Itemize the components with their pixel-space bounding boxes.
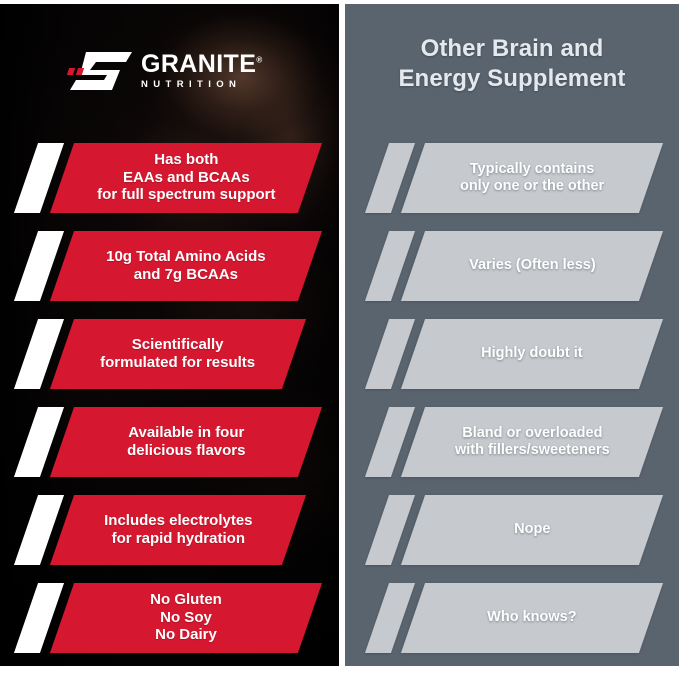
competitor-bar: Who knows?	[401, 583, 663, 653]
feature-bar-label: Has bothEAAs and BCAAsfor full spectrum …	[87, 151, 285, 204]
granite-nutrition-logo: GRANITE® NUTRITION	[66, 50, 263, 92]
feature-row: Includes electrolytesfor rapid hydration	[0, 489, 339, 577]
logo-subtitle: NUTRITION	[141, 80, 263, 90]
feature-row: 10g Total Amino Acidsand 7g BCAAs	[0, 225, 339, 313]
feature-bar-label: Available in fourdelicious flavors	[117, 424, 255, 459]
competitor-bar: Varies (Often less)	[401, 231, 663, 301]
competitor-bar: Nope	[401, 495, 663, 565]
competitor-feature-list: Typically containsonly one or the other …	[345, 137, 679, 665]
logo-brand-name: GRANITE®	[141, 52, 263, 77]
competitor-panel: Other Brain andEnergy Supplement Typical…	[345, 4, 679, 666]
brand-panel: GRANITE® NUTRITION Has bothEAAs and BCAA…	[0, 4, 339, 666]
feature-row: Available in fourdelicious flavors	[0, 401, 339, 489]
competitor-bar-label: Who knows?	[477, 609, 586, 626]
competitor-row: Varies (Often less)	[345, 225, 679, 313]
comparison-infographic: GRANITE® NUTRITION Has bothEAAs and BCAA…	[0, 0, 679, 679]
logo-wordmark: GRANITE® NUTRITION	[141, 52, 263, 90]
competitor-row: Nope	[345, 489, 679, 577]
competitor-bar: Bland or overloadedwith fillers/sweetene…	[401, 407, 663, 477]
feature-row: No GlutenNo SoyNo Dairy	[0, 577, 339, 665]
feature-row: Scientificallyformulated for results	[0, 313, 339, 401]
competitor-bar-label: Varies (Often less)	[459, 257, 606, 274]
feature-bar: Includes electrolytesfor rapid hydration	[50, 495, 306, 565]
competitor-bar-label: Typically containsonly one or the other	[450, 161, 614, 195]
competitor-bar: Highly doubt it	[401, 319, 663, 389]
feature-bar-label: Scientificallyformulated for results	[90, 336, 265, 371]
feature-bar: Scientificallyformulated for results	[50, 319, 306, 389]
registered-trademark-icon: ®	[256, 56, 262, 65]
feature-bar: Has bothEAAs and BCAAsfor full spectrum …	[50, 143, 322, 213]
feature-bar-label: 10g Total Amino Acidsand 7g BCAAs	[96, 248, 275, 283]
competitor-row: Highly doubt it	[345, 313, 679, 401]
feature-bar: No GlutenNo SoyNo Dairy	[50, 583, 322, 653]
competitor-bar-label: Bland or overloadedwith fillers/sweetene…	[445, 425, 620, 459]
competitor-bar-label: Nope	[504, 521, 560, 538]
feature-bar-label: Includes electrolytesfor rapid hydration	[94, 512, 262, 547]
feature-bar: 10g Total Amino Acidsand 7g BCAAs	[50, 231, 322, 301]
competitor-panel-title: Other Brain andEnergy Supplement	[345, 34, 679, 94]
competitor-row: Who knows?	[345, 577, 679, 665]
feature-row: Has bothEAAs and BCAAsfor full spectrum …	[0, 137, 339, 225]
feature-bar: Available in fourdelicious flavors	[50, 407, 322, 477]
competitor-row: Bland or overloadedwith fillers/sweetene…	[345, 401, 679, 489]
competitor-bar-label: Highly doubt it	[471, 345, 592, 362]
competitor-row: Typically containsonly one or the other	[345, 137, 679, 225]
brand-feature-list: Has bothEAAs and BCAAsfor full spectrum …	[0, 137, 339, 665]
granite-g-swoosh-icon	[66, 50, 134, 92]
feature-bar-label: No GlutenNo SoyNo Dairy	[140, 591, 232, 644]
competitor-bar: Typically containsonly one or the other	[401, 143, 663, 213]
